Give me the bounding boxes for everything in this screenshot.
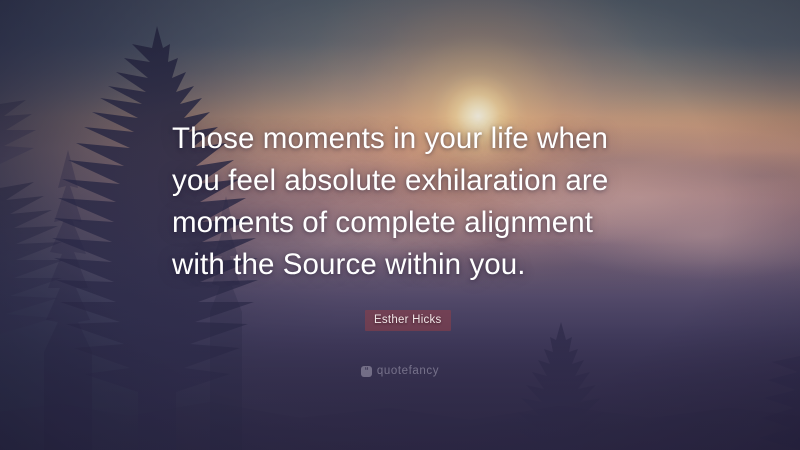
quote-mark-icon: “	[361, 366, 372, 377]
quote-text-block: Those moments in your life when you feel…	[172, 118, 652, 286]
quote-wallpaper: Those moments in your life when you feel…	[0, 0, 800, 450]
quote-line-2: you feel absolute exhilaration are	[172, 160, 652, 202]
quote-line-1: Those moments in your life when	[172, 118, 652, 160]
quote-line-4: with the Source within you.	[172, 244, 652, 286]
watermark: “ quotefancy	[0, 365, 800, 377]
quote-line-3: moments of complete alignment	[172, 202, 652, 244]
watermark-label: quotefancy	[377, 365, 439, 377]
author-attribution-badge: Esther Hicks	[365, 310, 451, 331]
quote-mark-glyph: “	[365, 367, 369, 375]
